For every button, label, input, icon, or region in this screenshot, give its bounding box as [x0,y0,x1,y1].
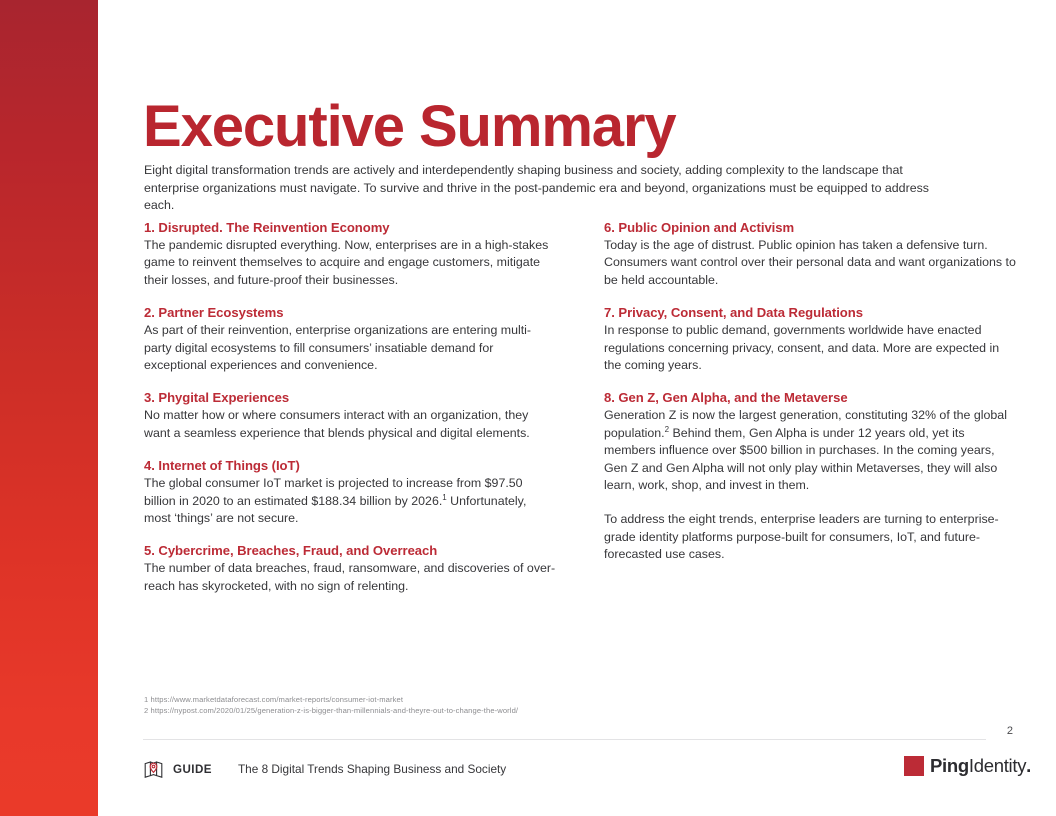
intro-paragraph: Eight digital transformation trends are … [144,162,956,214]
trend-heading: 7. Privacy, Consent, and Data Regulation… [604,304,1016,321]
trend-heading: 1. Disrupted. The Reinvention Economy [144,219,556,236]
page-number: 2 [1007,725,1013,737]
footnote-1[interactable]: 1 https://www.marketdataforecast.com/mar… [144,694,518,705]
trend-item: 1. Disrupted. The Reinvention Economy Th… [144,219,556,289]
ping-logo-mark-icon [904,756,924,776]
trend-heading: 8. Gen Z, Gen Alpha, and the Metaverse [604,389,1016,406]
logo-word-dot: . [1026,755,1031,776]
trend-body: The number of data breaches, fraud, rans… [144,560,556,595]
right-column: 6. Public Opinion and Activism Today is … [604,219,1016,595]
trend-heading: 3. Phygital Experiences [144,389,556,406]
trend-heading: 5. Cybercrime, Breaches, Fraud, and Over… [144,542,556,559]
map-guide-icon [143,759,164,780]
left-accent-bar [0,0,98,816]
footer-left-group: GUIDE The 8 Digital Trends Shaping Busin… [143,752,506,786]
trend-heading: 2. Partner Ecosystems [144,304,556,321]
footer-subtitle: The 8 Digital Trends Shaping Business an… [238,762,506,776]
trend-item: 5. Cybercrime, Breaches, Fraud, and Over… [144,542,556,595]
page-footer: GUIDE The 8 Digital Trends Shaping Busin… [143,752,1031,786]
logo-word-ping: Ping [930,755,969,776]
trend-body: As part of their reinvention, enterprise… [144,322,556,374]
trend-heading: 6. Public Opinion and Activism [604,219,1016,236]
trend-body: The pandemic disrupted everything. Now, … [144,237,556,289]
trend-item: 2. Partner Ecosystems As part of their r… [144,304,556,374]
trend-body: Generation Z is now the largest generati… [604,407,1016,494]
trend-item: 3. Phygital Experiences No matter how or… [144,389,556,442]
trend-item: 8. Gen Z, Gen Alpha, and the Metaverse G… [604,389,1016,494]
document-page: Executive Summary Eight digital transfor… [98,0,1056,816]
closing-paragraph: To address the eight trends, enterprise … [604,511,1016,563]
ping-identity-logo: PingIdentity. [904,756,1031,776]
logo-word-identity: Identity [969,755,1026,776]
trend-body: In response to public demand, government… [604,322,1016,374]
trend-item: 6. Public Opinion and Activism Today is … [604,219,1016,289]
trend-heading: 4. Internet of Things (IoT) [144,457,556,474]
trend-item: 7. Privacy, Consent, and Data Regulation… [604,304,1016,374]
ping-logo-text: PingIdentity. [930,756,1031,776]
trend-body: No matter how or where consumers interac… [144,407,556,442]
trends-columns: 1. Disrupted. The Reinvention Economy Th… [144,219,1016,595]
footer-divider [143,739,986,740]
page-title: Executive Summary [143,97,676,158]
trend-body: The global consumer IoT market is projec… [144,475,556,527]
footnotes: 1 https://www.marketdataforecast.com/mar… [144,694,518,716]
trend-item: 4. Internet of Things (IoT) The global c… [144,457,556,527]
left-column: 1. Disrupted. The Reinvention Economy Th… [144,219,556,595]
footnote-2[interactable]: 2 https://nypost.com/2020/01/25/generati… [144,705,518,716]
guide-label: GUIDE [173,763,212,776]
trend-body: Today is the age of distrust. Public opi… [604,237,1016,289]
